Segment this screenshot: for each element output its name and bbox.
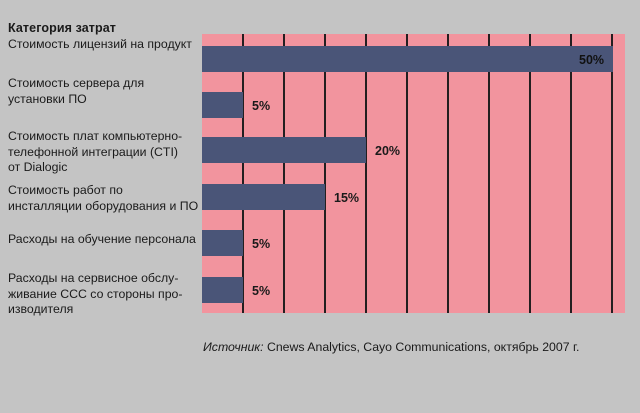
bar-value-4: 5%	[252, 238, 270, 251]
source-note-prefix: Источник:	[203, 340, 264, 354]
category-label-5: Расходы на сервисное обслу- живание ССС …	[8, 271, 202, 318]
bar-4[interactable]	[202, 230, 243, 256]
bar-2[interactable]	[202, 137, 366, 163]
category-label-3: Стоимость работ по инсталляции оборудова…	[8, 183, 202, 214]
source-note: Источник: Cnews Analytics, Cayo Communic…	[203, 340, 579, 354]
bar-0[interactable]	[202, 46, 613, 72]
bar-3[interactable]	[202, 184, 325, 210]
category-label-1: Стоимость сервера для установки ПО	[8, 76, 202, 107]
chart-container: Категория затрат Стоимость лицензий на п…	[0, 0, 640, 413]
page-title: Категория затрат	[8, 21, 116, 35]
bar-5[interactable]	[202, 277, 243, 303]
bar-value-2: 20%	[375, 145, 400, 158]
category-label-4: Расходы на обучение персонала	[8, 232, 202, 248]
bar-value-1: 5%	[252, 100, 270, 113]
category-label-0: Стоимость лицензий на продукт	[8, 37, 202, 53]
category-label-2: Стоимость плат компьютерно- телефонной и…	[8, 129, 202, 176]
source-note-text: Cnews Analytics, Cayo Communications, ок…	[264, 340, 580, 354]
plot-area: 50% 5% 20% 15% 5% 5%	[202, 34, 625, 313]
bar-value-0: 50%	[579, 54, 604, 67]
bar-value-3: 15%	[334, 192, 359, 205]
bar-1[interactable]	[202, 92, 243, 118]
category-label-list: Стоимость лицензий на продукт Стоимость …	[0, 34, 202, 313]
bar-value-5: 5%	[252, 285, 270, 298]
bars-layer: 50% 5% 20% 15% 5% 5%	[202, 34, 625, 313]
